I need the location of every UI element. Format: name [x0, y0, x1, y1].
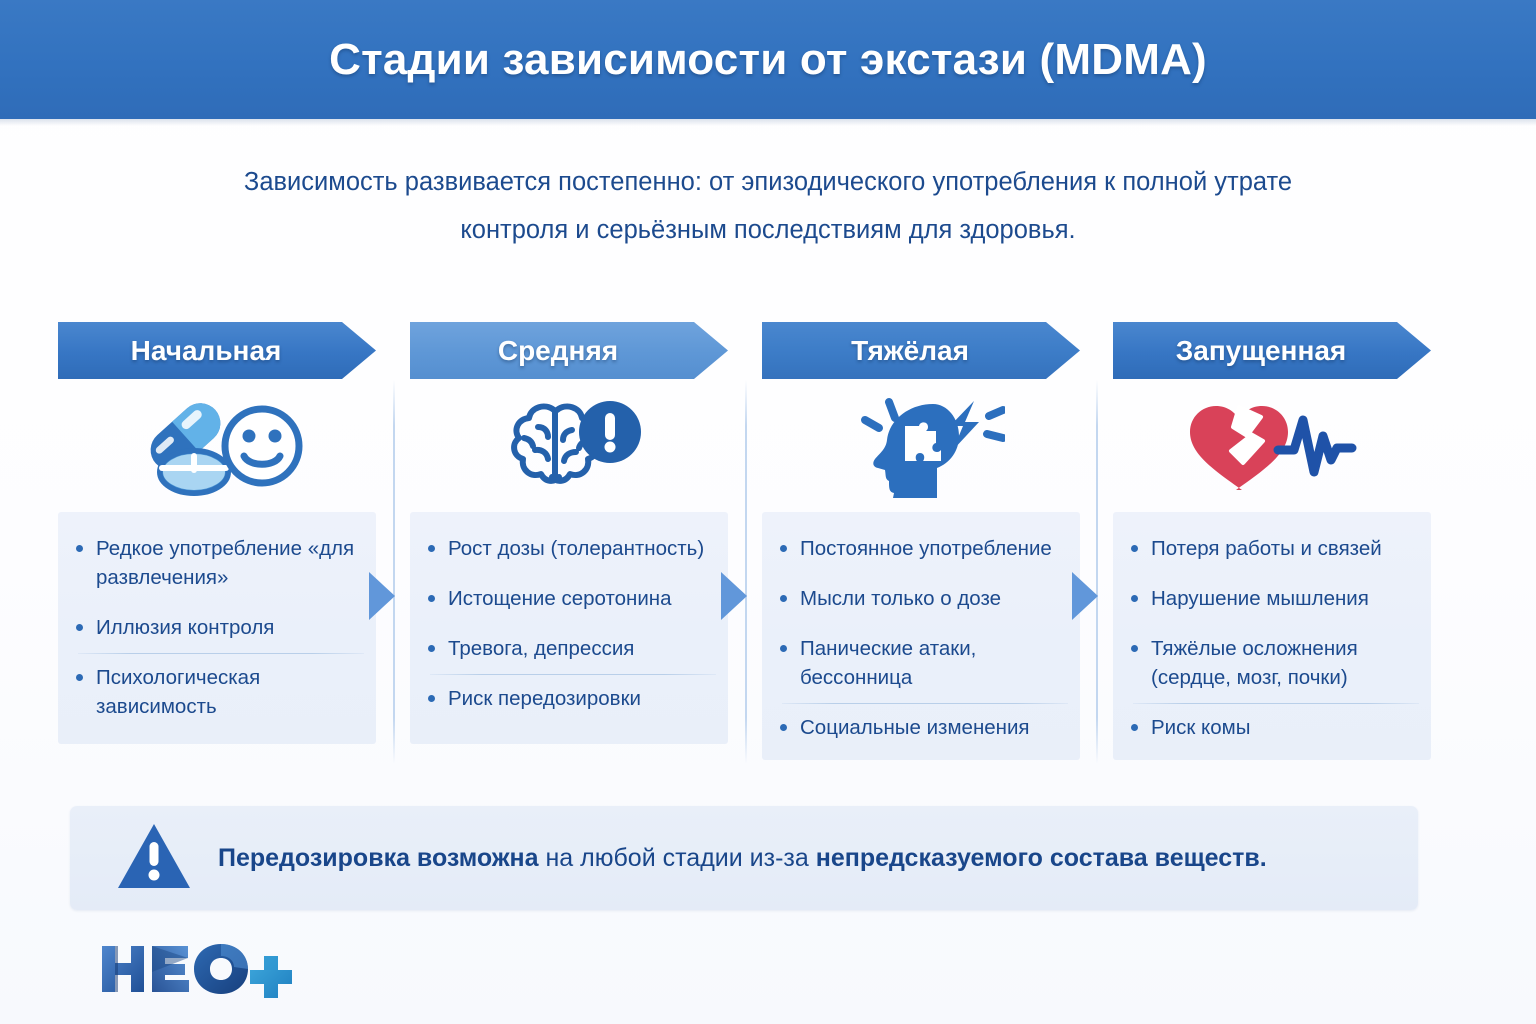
- page-title: Стадии зависимости от экстази (MDMA): [329, 35, 1207, 85]
- head-puzzle-lightning-icon: [762, 379, 1080, 512]
- brain-alert-icon: [410, 379, 728, 512]
- stage-banner-2[interactable]: Средняя: [410, 322, 728, 379]
- list-item: Иллюзия контроля: [70, 613, 360, 642]
- stage-connector-arrow-2: [721, 572, 747, 620]
- subtitle-line-1: Зависимость развивается постепенно: от э…: [168, 158, 1368, 206]
- list-item: Тревога, депрессия: [422, 634, 712, 663]
- stage-label-4: Запущенная: [1176, 335, 1347, 367]
- stages-container: Начальная: [58, 322, 1420, 764]
- stage-column-1[interactable]: Начальная: [58, 322, 376, 764]
- stage-bullet-list-2: Рост дозы (толерантность) Истощение серо…: [422, 534, 712, 713]
- list-item: Истощение серотонина: [422, 584, 712, 613]
- stage-banner-4[interactable]: Запущенная: [1113, 322, 1431, 379]
- warning-bold-1: Передозировка возможна: [218, 844, 539, 872]
- stage-column-3[interactable]: Тяжёлая: [762, 322, 1080, 764]
- warning-triangle-icon: [116, 822, 192, 895]
- list-item: Риск комы: [1125, 713, 1415, 742]
- stage-list-panel-3: Постоянное употребление Мысли только о д…: [762, 512, 1080, 760]
- list-item: Рост дозы (толерантность): [422, 534, 712, 563]
- stage-list-panel-1: Редкое употребление «для развлечения» Ил…: [58, 512, 376, 744]
- list-item: Редкое употребление «для развлечения»: [70, 534, 360, 592]
- infographic-page: Стадии зависимости от экстази (MDMA) Зав…: [0, 0, 1536, 1024]
- subtitle: Зависимость развивается постепенно: от э…: [168, 158, 1368, 254]
- stage-connector-arrow-1: [369, 572, 395, 620]
- stage-bullet-list-4: Потеря работы и связей Нарушение мышлени…: [1125, 534, 1415, 742]
- list-item: Потеря работы и связей: [1125, 534, 1415, 563]
- warning-regular: на любой стадии из-за: [539, 844, 816, 872]
- page-header: Стадии зависимости от экстази (MDMA): [0, 0, 1536, 119]
- subtitle-line-2: контроля и серьёзным последствиям для зд…: [168, 206, 1368, 254]
- list-item: Психологическая зависимость: [70, 663, 360, 721]
- stage-banner-3[interactable]: Тяжёлая: [762, 322, 1080, 379]
- stage-banner-1[interactable]: Начальная: [58, 322, 376, 379]
- warning-bold-2: непредсказуемого состава веществ.: [816, 844, 1267, 872]
- stage-label-2: Средняя: [498, 335, 618, 367]
- list-item: Мысли только о дозе: [774, 584, 1064, 613]
- stage-label-3: Тяжёлая: [851, 335, 969, 367]
- warning-banner: Передозировка возможна на любой стадии и…: [70, 806, 1418, 910]
- stage-list-panel-2: Рост дозы (толерантность) Истощение серо…: [410, 512, 728, 744]
- list-item: Постоянное употребление: [774, 534, 1064, 563]
- stage-column-4[interactable]: Запущенная Потеря работы и связей Наруше…: [1113, 322, 1431, 764]
- stage-connector-arrow-3: [1072, 572, 1098, 620]
- header-shadow: [0, 119, 1536, 126]
- broken-heart-ecg-icon: [1113, 379, 1431, 512]
- list-item: Панические атаки, бессонница: [774, 634, 1064, 692]
- pills-smiley-icon: [58, 379, 376, 512]
- stage-bullet-list-3: Постоянное употребление Мысли только о д…: [774, 534, 1064, 742]
- list-item: Нарушение мышления: [1125, 584, 1415, 613]
- warning-text: Передозировка возможна на любой стадии и…: [218, 842, 1267, 874]
- logo[interactable]: [96, 938, 296, 1000]
- list-item: Социальные изменения: [774, 713, 1064, 742]
- stage-column-2[interactable]: Средняя Рост до: [410, 322, 728, 764]
- stage-list-panel-4: Потеря работы и связей Нарушение мышлени…: [1113, 512, 1431, 760]
- list-item: Тяжёлые осложнения (сердце, мозг, почки): [1125, 634, 1415, 692]
- list-item: Риск передозировки: [422, 684, 712, 713]
- stage-bullet-list-1: Редкое употребление «для развлечения» Ил…: [70, 534, 360, 721]
- stage-label-1: Начальная: [131, 335, 282, 367]
